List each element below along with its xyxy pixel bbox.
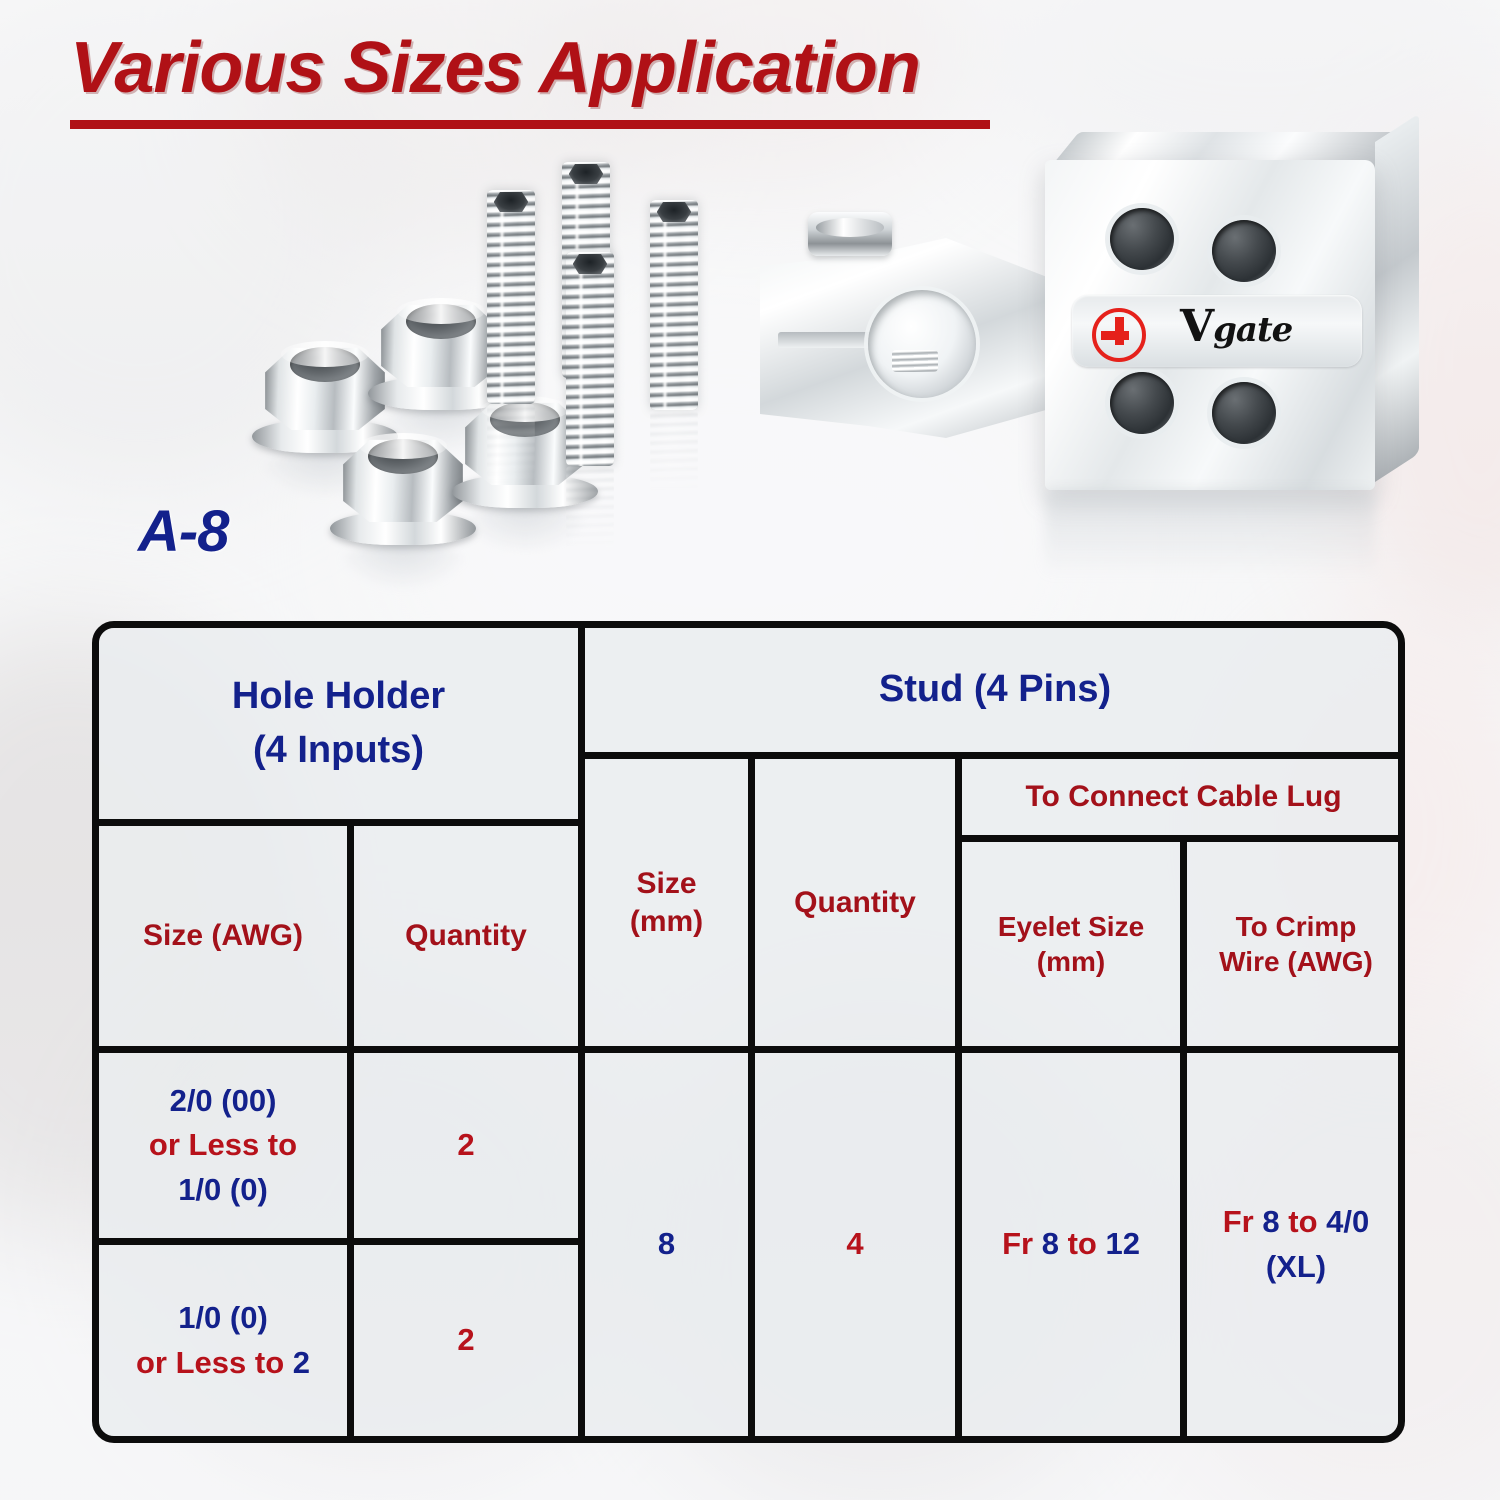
terminal-cable-hole [1212,220,1276,282]
column-header-crimp-wire: To Crimp Wire (AWG) [1187,842,1405,1053]
stud-size-mm-text: 8 [658,1222,675,1266]
stud-highlight [662,200,668,410]
stud-reflection [650,410,698,494]
stud-quantity-value: 4 [755,1053,962,1436]
model-label: A-8 [138,498,228,565]
specification-table: Hole Holder (4 Inputs) Stud (4 Pins) Siz… [92,621,1405,1443]
stud-threads [566,252,614,466]
stud-hex-socket [494,192,529,212]
stud-hex-socket [657,202,692,222]
column-header-quantity-holder-label: Quantity [405,917,527,955]
stud-threads [487,190,535,404]
stud-size-mm-value: 8 [585,1053,755,1436]
row1-size-line2: or Less to [149,1123,297,1167]
group-header-stud-label: Stud (4 Pins) [879,663,1111,717]
terminal-body-side-face [1375,113,1419,482]
brand-logo-gate: gate [1213,310,1292,350]
column-header-eyelet-line1: Eyelet Size [998,909,1144,944]
eyelet-to: 12 [1105,1226,1139,1261]
threaded-stud [487,190,535,404]
crimp-from: 8 [1262,1204,1279,1239]
row2-size-line2: or Less to 2 [136,1341,310,1385]
row1-size-line3: 1/0 (0) [149,1168,297,1212]
group-header-hole-holder-line1: Hole Holder [232,670,445,724]
column-header-crimp-line2: Wire (AWG) [1219,944,1373,979]
crimp-to-word: to [1288,1204,1317,1239]
threaded-stud [566,252,614,466]
terminal-reflection [1045,490,1375,576]
stud-highlight [499,190,505,404]
stud-highlight [578,252,584,466]
row1-size-line1: 2/0 (00) [149,1079,297,1123]
column-header-crimp-line1: To Crimp [1219,909,1373,944]
column-header-eyelet-line2: (mm) [998,944,1144,979]
plus-icon-horizontal-bar [1101,331,1129,340]
crimp-prefix: Fr [1223,1204,1254,1239]
crimp-line1: Fr 8 to 4/0 [1223,1200,1370,1244]
column-header-size-mm: Size (mm) [585,759,755,1053]
group-header-hole-holder: Hole Holder (4 Inputs) [99,628,585,826]
column-header-quantity-stud-label: Quantity [794,884,916,922]
stud-hex-socket [573,254,608,274]
brand-logo: Vgate [1180,305,1292,349]
row2-quantity-value: 2 [457,1318,474,1362]
stud-reflection [566,466,614,552]
bolt-cap-highlight [816,218,883,236]
stud-quantity-text: 4 [846,1222,863,1266]
table-row: 1/0 (0) or Less to 2 [99,1245,354,1436]
group-header-cable-lug: To Connect Cable Lug [962,759,1405,842]
terminal-cable-hole [1110,372,1174,434]
row2-quantity: 2 [354,1245,585,1436]
row2-size-line1: 1/0 (0) [136,1296,310,1340]
eyelet-prefix: Fr [1002,1226,1033,1261]
page-title-block: Various Sizes Application [70,32,990,129]
column-header-quantity-stud: Quantity [755,759,962,1053]
terminal-clamp-screw [892,350,938,372]
terminal-clamp-bolt [808,212,892,256]
eyelet-to-word: to [1068,1226,1097,1261]
row2-size-line2-text: or Less to [136,1345,284,1380]
page-title: Various Sizes Application [70,32,990,104]
title-underline [70,120,990,129]
plus-icon [1092,308,1146,362]
crimp-to: 4/0 [1326,1204,1369,1239]
column-header-size-awg: Size (AWG) [99,826,354,1053]
column-header-size-mm-line1: Size [630,865,703,903]
threaded-stud [650,200,698,410]
group-header-cable-lug-label: To Connect Cable Lug [1025,778,1341,816]
nut-rim-highlight [281,341,369,367]
group-header-hole-holder-line2: (4 Inputs) [232,724,445,778]
row1-quantity-value: 2 [457,1123,474,1167]
column-header-size-awg-label: Size (AWG) [143,917,303,955]
nut-rim-highlight [397,298,485,324]
battery-terminal-block: Vgate [760,150,1400,580]
stud-hex-socket [569,164,604,184]
column-header-size-mm-line2: (mm) [630,903,703,941]
row2-size-line2-suffix: 2 [293,1345,310,1380]
stud-reflection [487,404,535,484]
nut-rim-highlight [359,433,447,459]
eyelet-from: 8 [1042,1226,1059,1261]
terminal-cable-hole [1110,208,1174,270]
terminal-cable-hole [1212,382,1276,444]
crimp-wire-value: Fr 8 to 4/0 (XL) [1187,1053,1405,1436]
stud-threads [650,200,698,410]
terminal-clamp-ring [868,290,976,398]
column-header-quantity-holder: Quantity [354,826,585,1053]
row1-quantity: 2 [354,1053,585,1245]
brand-logo-v: V [1180,301,1213,352]
group-header-stud: Stud (4 Pins) [585,628,1405,759]
eyelet-size-value: Fr 8 to 12 [962,1053,1187,1436]
crimp-note: (XL) [1223,1245,1370,1289]
column-header-eyelet-size: Eyelet Size (mm) [962,842,1187,1053]
nut-reflection [336,543,470,590]
table-row: 2/0 (00) or Less to 1/0 (0) [99,1053,354,1245]
